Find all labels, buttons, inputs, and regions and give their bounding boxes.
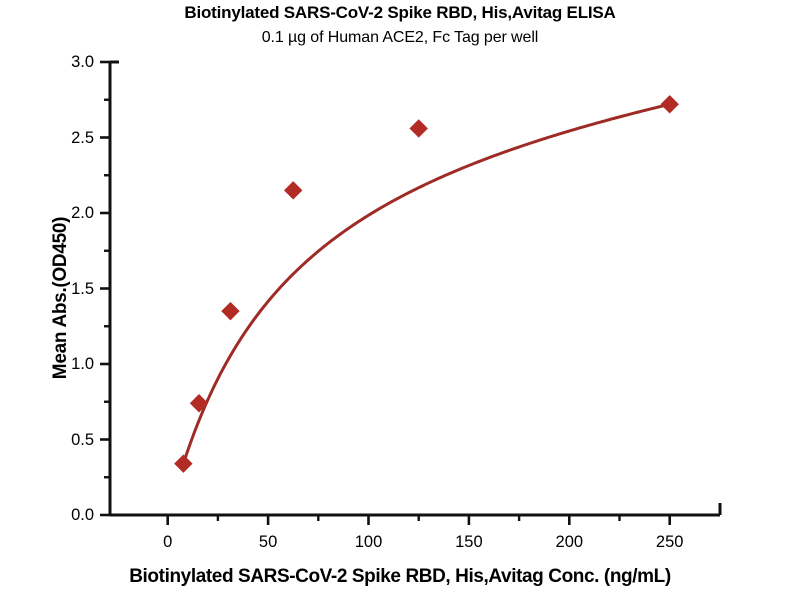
plot-area xyxy=(0,0,800,600)
y-tick-label: 2.0 xyxy=(34,205,94,222)
x-tick-label: 100 xyxy=(339,534,399,551)
y-tick-label: 0.5 xyxy=(34,432,94,449)
data-point-marker xyxy=(410,120,427,137)
data-point-marker xyxy=(175,455,192,472)
x-tick-label: 150 xyxy=(439,534,499,551)
x-tick-label: 250 xyxy=(640,534,700,551)
elisa-chart-figure: Biotinylated SARS-CoV-2 Spike RBD, His,A… xyxy=(0,0,800,600)
y-tick-label: 1.5 xyxy=(34,281,94,298)
data-point-marker xyxy=(222,303,239,320)
data-point-marker xyxy=(285,182,302,199)
y-tick-label: 3.0 xyxy=(34,54,94,71)
data-markers xyxy=(175,96,678,472)
fit-curve xyxy=(183,104,669,463)
x-tick-label: 50 xyxy=(238,534,298,551)
y-tick-label: 2.5 xyxy=(34,130,94,147)
x-tick-label: 0 xyxy=(138,534,198,551)
y-tick-label: 0.0 xyxy=(34,507,94,524)
y-tick-label: 1.0 xyxy=(34,356,94,373)
data-point-marker xyxy=(661,96,678,113)
x-tick-label: 200 xyxy=(539,534,599,551)
